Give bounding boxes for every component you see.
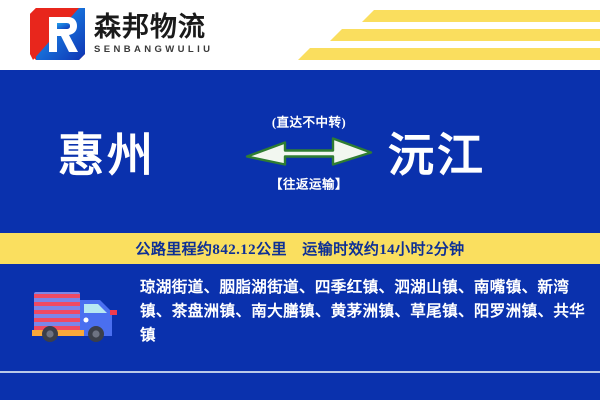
service-areas-section: 琼湖街道、胭脂湖街道、四季红镇、泗湖山镇、南嘴镇、新湾镇、茶盘洲镇、南大膳镇、黄… bbox=[0, 264, 600, 372]
round-trip-note: 【往返运输】 bbox=[270, 173, 348, 192]
origin-city: 惠州 bbox=[58, 119, 156, 185]
distance-duration-text: 公路里程约842.12公里 运输时效约14小时2分钟 bbox=[135, 238, 464, 259]
bidirectional-arrow-icon bbox=[245, 134, 373, 168]
page-footer bbox=[0, 373, 600, 400]
direct-shipping-note: (直达不中转) bbox=[272, 111, 346, 130]
service-areas-list: 琼湖街道、胭脂湖街道、四季红镇、泗湖山镇、南嘴镇、新湾镇、茶盘洲镇、南大膳镇、黄… bbox=[140, 276, 588, 348]
page-header: 森邦物流 SENBANGWULIU bbox=[0, 0, 600, 70]
brand-name-cn: 森邦物流 bbox=[94, 13, 213, 42]
route-arrow-block: (直达不中转) 【往返运输】 bbox=[245, 111, 373, 192]
brand-text: 森邦物流 SENBANGWULIU bbox=[94, 13, 213, 55]
logo-svg bbox=[30, 8, 85, 60]
brand-logo[interactable]: 森邦物流 SENBANGWULIU bbox=[30, 8, 213, 60]
brand-name-en: SENBANGWULIU bbox=[94, 44, 213, 55]
route-info-bar: 公路里程约842.12公里 运输时效约14小时2分钟 bbox=[0, 233, 600, 264]
delivery-truck-icon bbox=[28, 286, 120, 342]
destination-city: 沅江 bbox=[388, 119, 486, 185]
stripe-2 bbox=[330, 29, 600, 41]
yellow-stripes-decoration bbox=[270, 0, 600, 70]
stripe-3 bbox=[298, 48, 600, 60]
stripe-1 bbox=[362, 10, 600, 22]
senbang-logo-icon bbox=[30, 8, 85, 60]
route-banner: 惠州 (直达不中转) 【往返运输】 沅江 bbox=[0, 70, 600, 233]
